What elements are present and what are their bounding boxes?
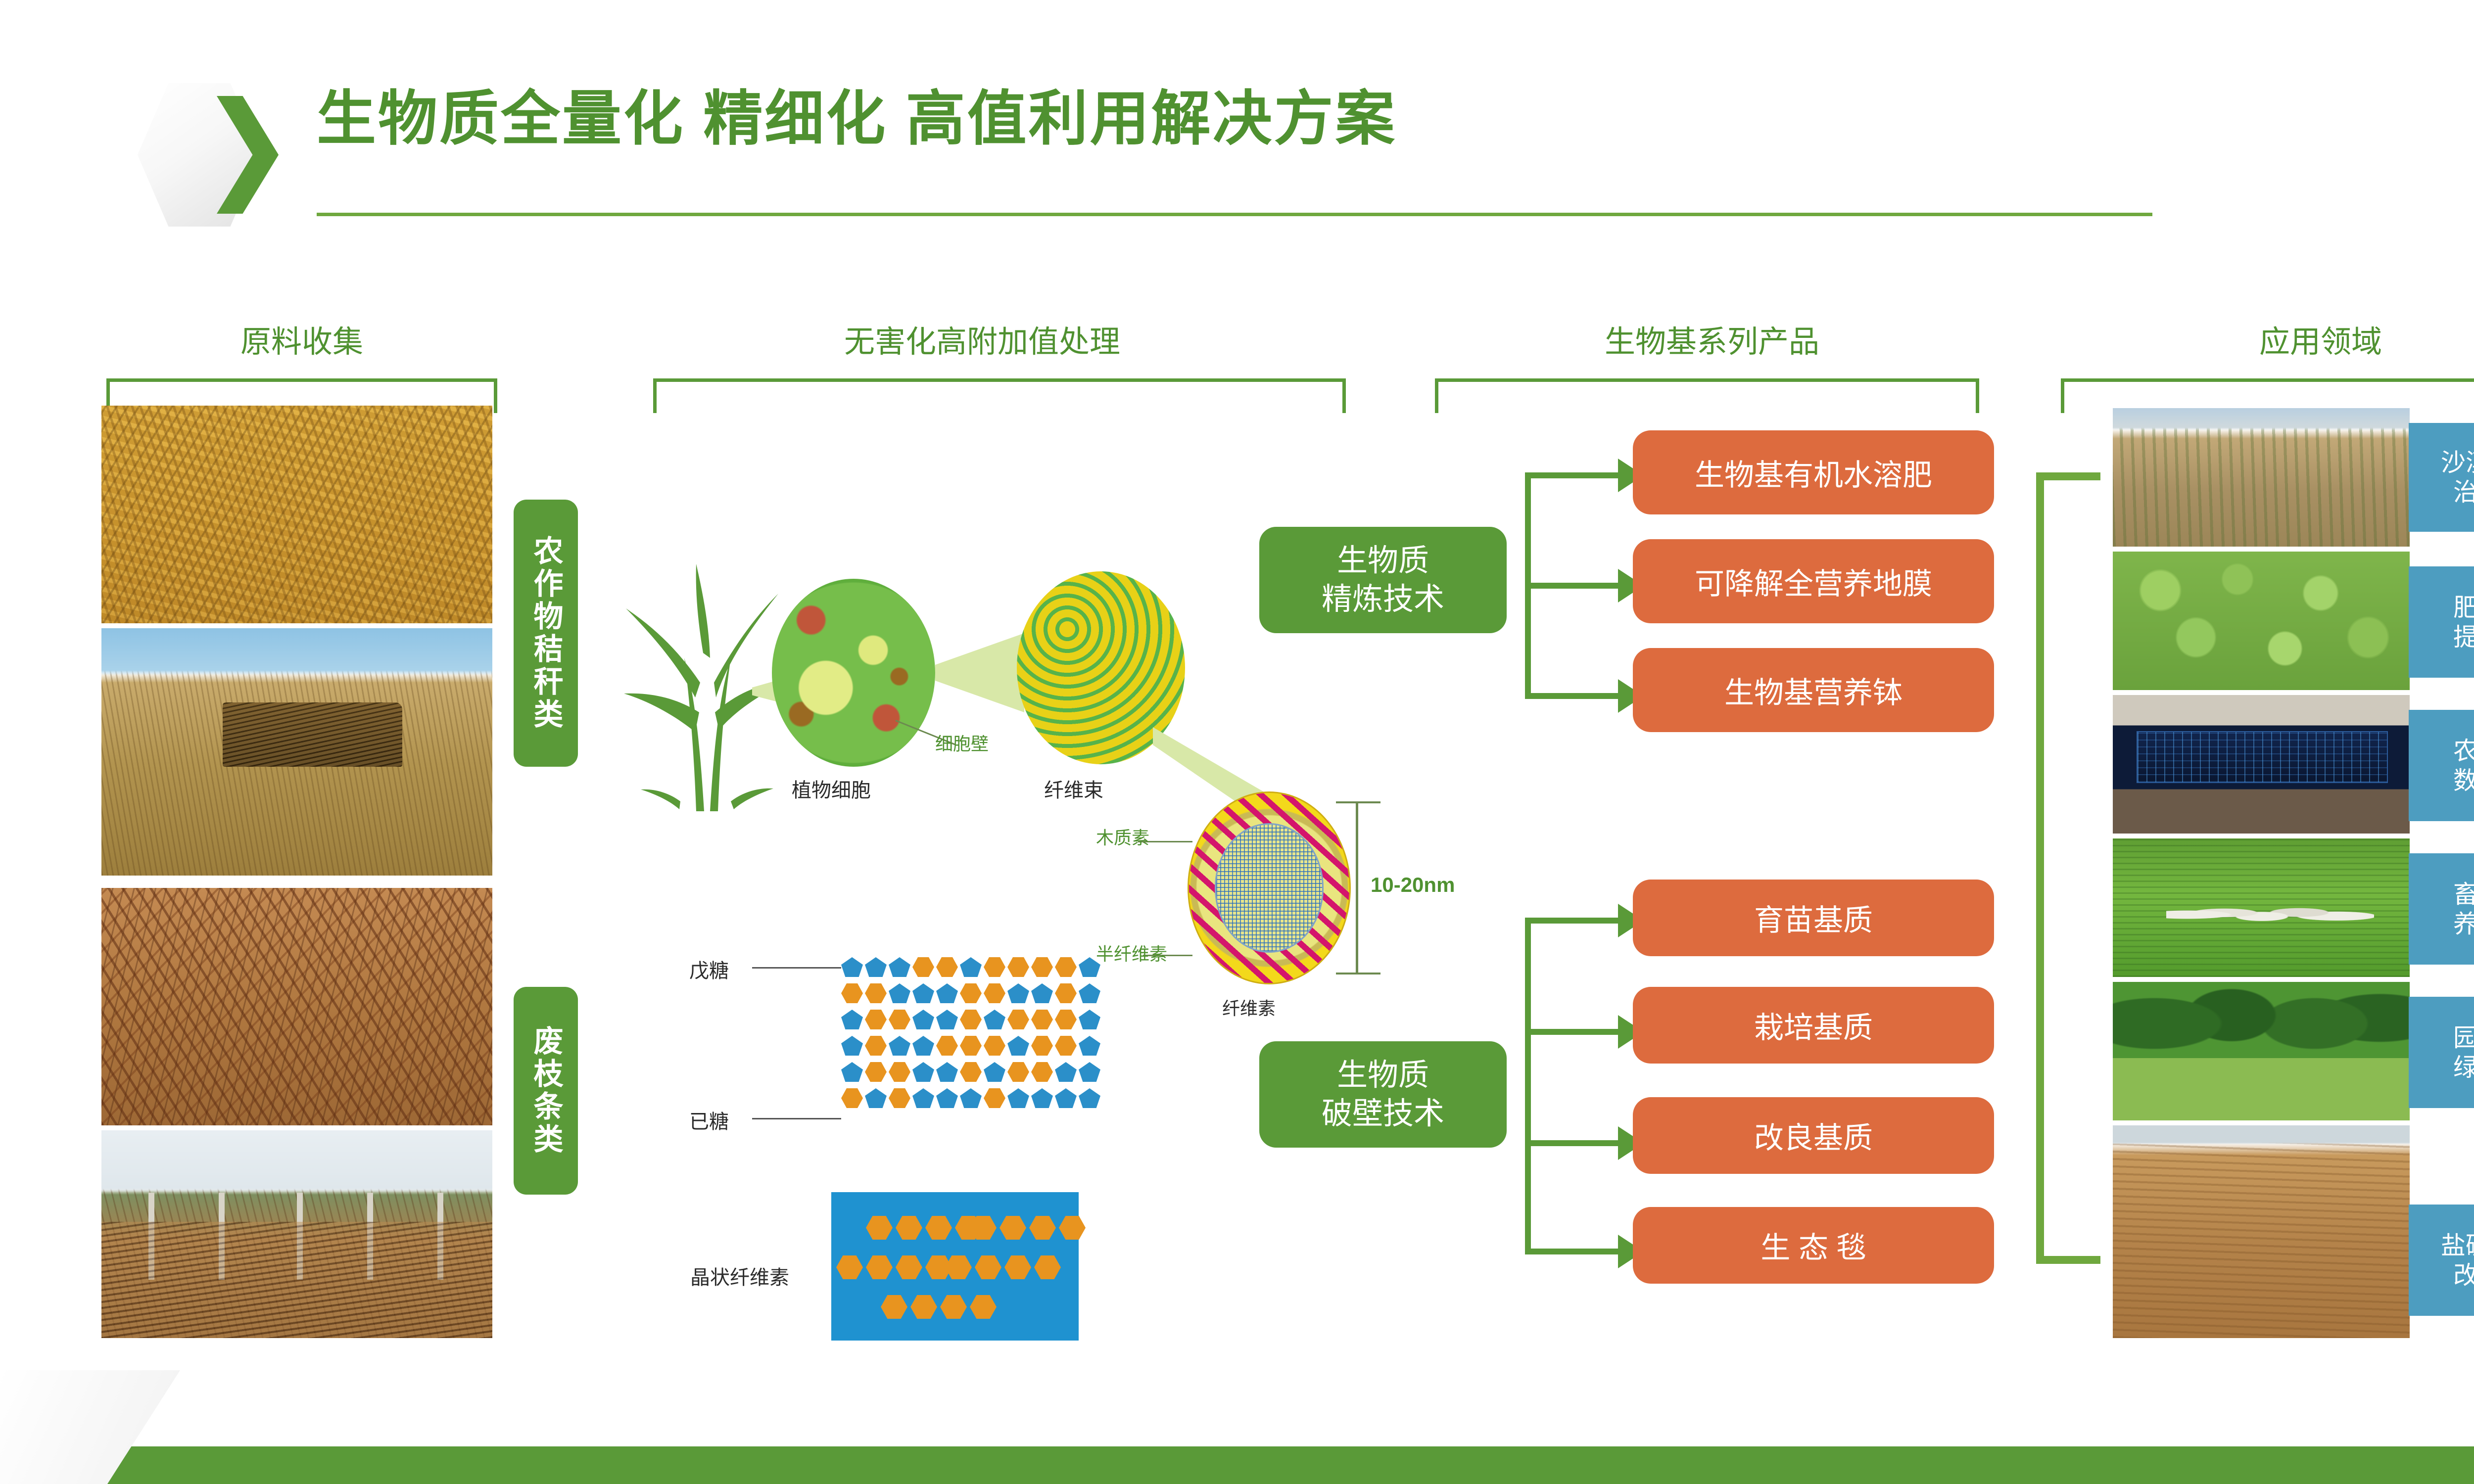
application-label-saline-land-improvement[interactable]: 盐碱地 改良	[2409, 1205, 2474, 1316]
applications-bracket	[2036, 472, 2100, 1264]
app-1-line1: 肥力	[2453, 593, 2474, 622]
application-label-desertification-control[interactable]: 沙漠化 治理	[2409, 423, 2474, 532]
crystalline-cellulose-label: 晶状纤维素	[690, 1261, 789, 1290]
cellulose-core	[1215, 823, 1324, 952]
fiber-cross-section-diagram	[1188, 791, 1351, 984]
photo-sheep-pasture	[2113, 838, 2410, 977]
application-label-agricultural-data[interactable]: 农业 数据	[2409, 710, 2474, 821]
arrow-stem-g2-1	[1525, 918, 1619, 924]
arrow-stem-g1-2	[1525, 583, 1619, 589]
tech-refining-line1: 生物质	[1337, 542, 1429, 580]
app-5-line1: 盐碱地	[2441, 1231, 2474, 1260]
dimension-bar	[1356, 801, 1358, 974]
crystalline-cellulose-diagram	[831, 1192, 1079, 1341]
app-4-line1: 园林	[2453, 1023, 2474, 1053]
product-box-degradable-mulch-film[interactable]: 可降解全营养地膜	[1633, 539, 1994, 623]
section-title-raw-collection: 原料收集	[148, 317, 455, 361]
dimension-tick-bottom	[1336, 973, 1380, 974]
infographic-canvas: 生物质全量化 精细化 高值利用解决方案 原料收集 无害化高附加值处理 生物基系列…	[0, 0, 2474, 1484]
pentose-label: 戊糖	[689, 955, 729, 983]
tech-wall-line1: 生物质	[1337, 1056, 1429, 1095]
arrow-spine-group2	[1525, 918, 1531, 1254]
section-bracket-processing	[653, 378, 1346, 413]
app-4-line2: 绿化	[2453, 1053, 2474, 1082]
application-label-livestock-breeding[interactable]: 畜牧 养殖	[2409, 853, 2474, 965]
product-box-nutrient-pot[interactable]: 生物基营养钵	[1633, 648, 1994, 732]
material-category-crop-straw: 农作物秸秆类	[514, 500, 578, 767]
zoom-beam-cell-to-bundle	[935, 633, 1024, 712]
dimension-label: 10-20nm	[1371, 873, 1455, 897]
arrow-stem-g2-2	[1525, 1029, 1619, 1035]
app-3-line1: 畜牧	[2453, 880, 2474, 909]
tech-wall-line2: 破壁技术	[1322, 1095, 1444, 1133]
app-2-line1: 农业	[2453, 736, 2474, 766]
grass-plant-icon	[621, 534, 789, 811]
photo-saline-land	[2113, 1125, 2410, 1338]
section-title-applications: 应用领域	[2118, 317, 2474, 361]
product-box-improvement-substrate[interactable]: 改良基质	[1633, 1097, 1994, 1174]
title-divider	[317, 213, 2152, 216]
hexagon-logo-icon	[138, 83, 286, 227]
hexose-label: 已糖	[689, 1106, 729, 1134]
section-title-processing: 无害化高附加值处理	[638, 317, 1326, 361]
product-box-seedling-substrate[interactable]: 育苗基质	[1633, 880, 1994, 956]
arrow-stem-g1-3	[1525, 693, 1619, 699]
photo-desert-control	[2113, 408, 2410, 547]
tech-box-biomass-refining[interactable]: 生物质 精炼技术	[1259, 527, 1507, 633]
cell-wall-label: 细胞壁	[935, 730, 989, 755]
arrow-stem-g1-1	[1525, 472, 1619, 478]
product-box-cultivation-substrate[interactable]: 栽培基质	[1633, 987, 1994, 1064]
plant-cell-label: 植物细胞	[792, 774, 871, 803]
cellulose-label: 纤维素	[1222, 994, 1276, 1020]
pentose-leader-line	[752, 967, 841, 969]
app-0-line1: 沙漠化	[2441, 448, 2474, 477]
app-1-line2: 提升	[2453, 622, 2474, 652]
tech-refining-line2: 精炼技术	[1322, 580, 1444, 619]
app-2-line2: 数据	[2453, 766, 2474, 795]
tech-box-biomass-wall-breaking[interactable]: 生物质 破壁技术	[1259, 1041, 1507, 1148]
photo-cabbage-field	[2113, 552, 2410, 690]
application-label-fertility-improvement[interactable]: 肥力 提升	[2409, 566, 2474, 678]
material-category-waste-branches: 废枝条类	[514, 987, 578, 1195]
arrow-stem-g2-3	[1525, 1140, 1619, 1146]
app-3-line2: 养殖	[2453, 909, 2474, 939]
section-title-bio-products: 生物基系列产品	[1435, 317, 1989, 361]
app-0-line2: 治理	[2453, 477, 2474, 507]
photo-dry-branches	[101, 888, 492, 1125]
lignin-label: 木质素	[1096, 824, 1149, 849]
page-title: 生物质全量化 精细化 高值利用解决方案	[317, 82, 1397, 156]
hexose-leader-line	[752, 1118, 841, 1119]
section-bracket-bio-products	[1435, 378, 1979, 413]
app-5-line2: 改良	[2453, 1260, 2474, 1290]
plant-cell-diagram	[772, 579, 935, 767]
photo-corn-stalk-field	[101, 406, 492, 623]
arrow-stem-g2-4	[1525, 1249, 1619, 1254]
footer-bar	[0, 1446, 2474, 1484]
dimension-tick-top	[1336, 801, 1380, 803]
application-label-landscape-greening[interactable]: 园林 绿化	[2409, 997, 2474, 1108]
photo-data-control-room	[2113, 695, 2410, 834]
photo-park-greening	[2113, 982, 2410, 1120]
hemicellulose-label: 半纤维素	[1096, 940, 1167, 966]
photo-straw-bale-field	[101, 628, 492, 876]
photo-vineyard-pruning	[101, 1130, 492, 1338]
fiber-bundle-label: 纤维束	[1044, 774, 1103, 803]
product-box-water-soluble-fertilizer[interactable]: 生物基有机水溶肥	[1633, 430, 1994, 514]
product-box-ecological-blanket[interactable]: 生 态 毯	[1633, 1207, 1994, 1284]
